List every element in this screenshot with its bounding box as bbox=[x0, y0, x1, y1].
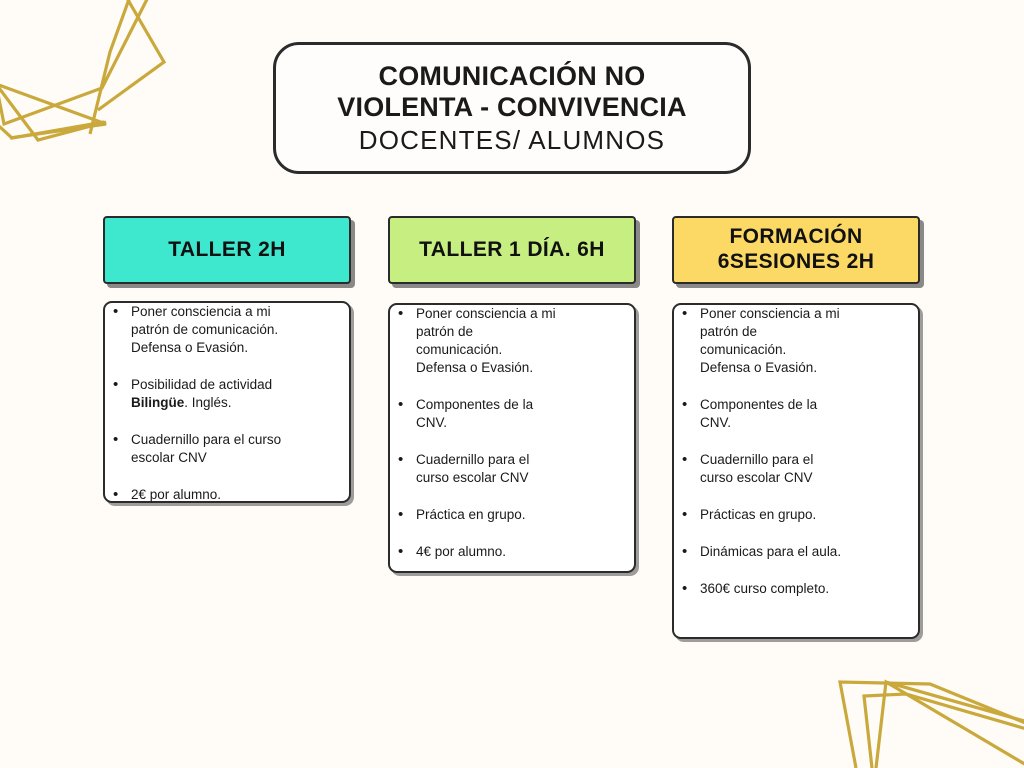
feature-list-item: 2€ por alumno. bbox=[105, 486, 349, 504]
page-title-subtitle: DOCENTES/ ALUMNOS bbox=[359, 125, 665, 155]
corner-lines-bottom-right-icon bbox=[814, 648, 1024, 768]
feature-list-item: Poner consciencia a mi patrón de comunic… bbox=[390, 305, 634, 377]
feature-list-item: Componentes de la CNV. bbox=[390, 396, 634, 432]
feature-list-item: Dinámicas para el aula. bbox=[674, 543, 918, 561]
feature-list-item: Cuadernillo para el curso escolar CNV bbox=[105, 431, 349, 467]
feature-list-item: Cuadernillo para el curso escolar CNV bbox=[390, 451, 634, 487]
column-header-taller-1dia-6h: TALLER 1 DÍA. 6H bbox=[388, 216, 636, 284]
feature-list-item: Componentes de la CNV. bbox=[674, 396, 918, 432]
feature-list-taller-1dia-6h: Poner consciencia a mi patrón de comunic… bbox=[388, 303, 636, 573]
feature-list-item: Cuadernillo para el curso escolar CNV bbox=[674, 451, 918, 487]
feature-list-item: 360€ curso completo. bbox=[674, 580, 918, 598]
feature-list-item: 4€ por alumno. bbox=[390, 543, 634, 561]
page-title-line-1: COMUNICACIÓN NO bbox=[379, 61, 646, 92]
feature-list-item: Posibilidad de actividad Bilingüe. Inglé… bbox=[105, 376, 349, 412]
page-title-box: COMUNICACIÓN NO VIOLENTA - CONVIVENCIA D… bbox=[273, 42, 751, 174]
column-header-label: FORMACIÓN 6SESIONES 2H bbox=[682, 225, 910, 275]
feature-list-item: Prácticas en grupo. bbox=[674, 506, 918, 524]
feature-list-taller-2h: Poner consciencia a mi patrón de comunic… bbox=[103, 301, 351, 503]
column-header-taller-2h: TALLER 2H bbox=[103, 216, 351, 284]
feature-list-item: Poner consciencia a mi patrón de comunic… bbox=[105, 303, 349, 357]
feature-list-item: Poner consciencia a mi patrón de comunic… bbox=[674, 305, 918, 377]
column-header-label: TALLER 1 DÍA. 6H bbox=[419, 238, 605, 263]
column-header-label: TALLER 2H bbox=[168, 238, 286, 263]
page-title-line-2: VIOLENTA - CONVIVENCIA bbox=[337, 92, 686, 123]
feature-list-formacion-6-sesiones-2h: Poner consciencia a mi patrón de comunic… bbox=[672, 303, 920, 639]
feature-list-item: Práctica en grupo. bbox=[390, 506, 634, 524]
corner-lines-top-left-icon bbox=[0, 0, 214, 172]
column-header-formacion-6-sesiones-2h: FORMACIÓN 6SESIONES 2H bbox=[672, 216, 920, 284]
